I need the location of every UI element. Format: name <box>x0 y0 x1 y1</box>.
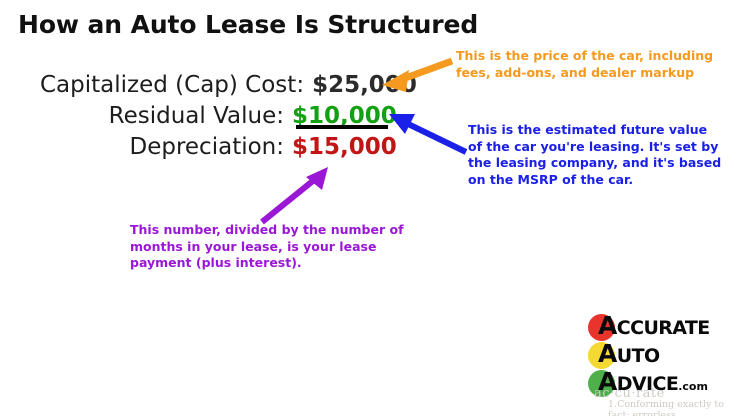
logo-line-accurate: ACCURATE <box>588 312 734 340</box>
annotation-cap-cost: This is the price of the car, including … <box>456 48 736 81</box>
lease-structure-ledger: Capitalized (Cap) Cost: $25,000 Residual… <box>40 72 400 165</box>
logo-definition-meaning: 1.Conforming exactly to fact; errorless. <box>594 399 740 416</box>
ledger-row-residual-value: Residual Value: $10,000 <box>40 103 400 134</box>
logo-definition-word: ac·cu·rate <box>594 388 740 399</box>
site-logo[interactable]: ACCURATE AUTO ADVICE.com ac·cu·rate 1.Co… <box>588 312 734 412</box>
value-depreciation: $15,000 <box>292 134 397 160</box>
annotation-residual-value: This is the estimated future value of th… <box>468 122 736 188</box>
purple-arrow-upright-icon <box>262 167 328 222</box>
logo-word-auto: AUTO <box>598 340 660 370</box>
page-title: How an Auto Lease Is Structured <box>18 10 478 39</box>
ledger-row-depreciation: Depreciation: $15,000 <box>40 134 400 165</box>
logo-definition: ac·cu·rate 1.Conforming exactly to fact;… <box>594 388 740 416</box>
label-depreciation: Depreciation: <box>40 134 292 160</box>
infographic-canvas: How an Auto Lease Is Structured Capitali… <box>0 0 740 416</box>
annotation-depreciation: This number, divided by the number of mo… <box>130 222 420 272</box>
blue-arrow-upleft-icon <box>389 114 466 152</box>
logo-word-accurate: ACCURATE <box>598 312 710 342</box>
label-residual-value: Residual Value: <box>40 103 292 129</box>
logo-line-auto: AUTO <box>588 340 734 368</box>
ledger-row-capitalized-cost: Capitalized (Cap) Cost: $25,000 <box>40 72 400 103</box>
label-capitalized-cost: Capitalized (Cap) Cost: <box>40 72 312 98</box>
subtraction-rule <box>296 125 388 129</box>
value-capitalized-cost: $25,000 <box>312 72 417 98</box>
